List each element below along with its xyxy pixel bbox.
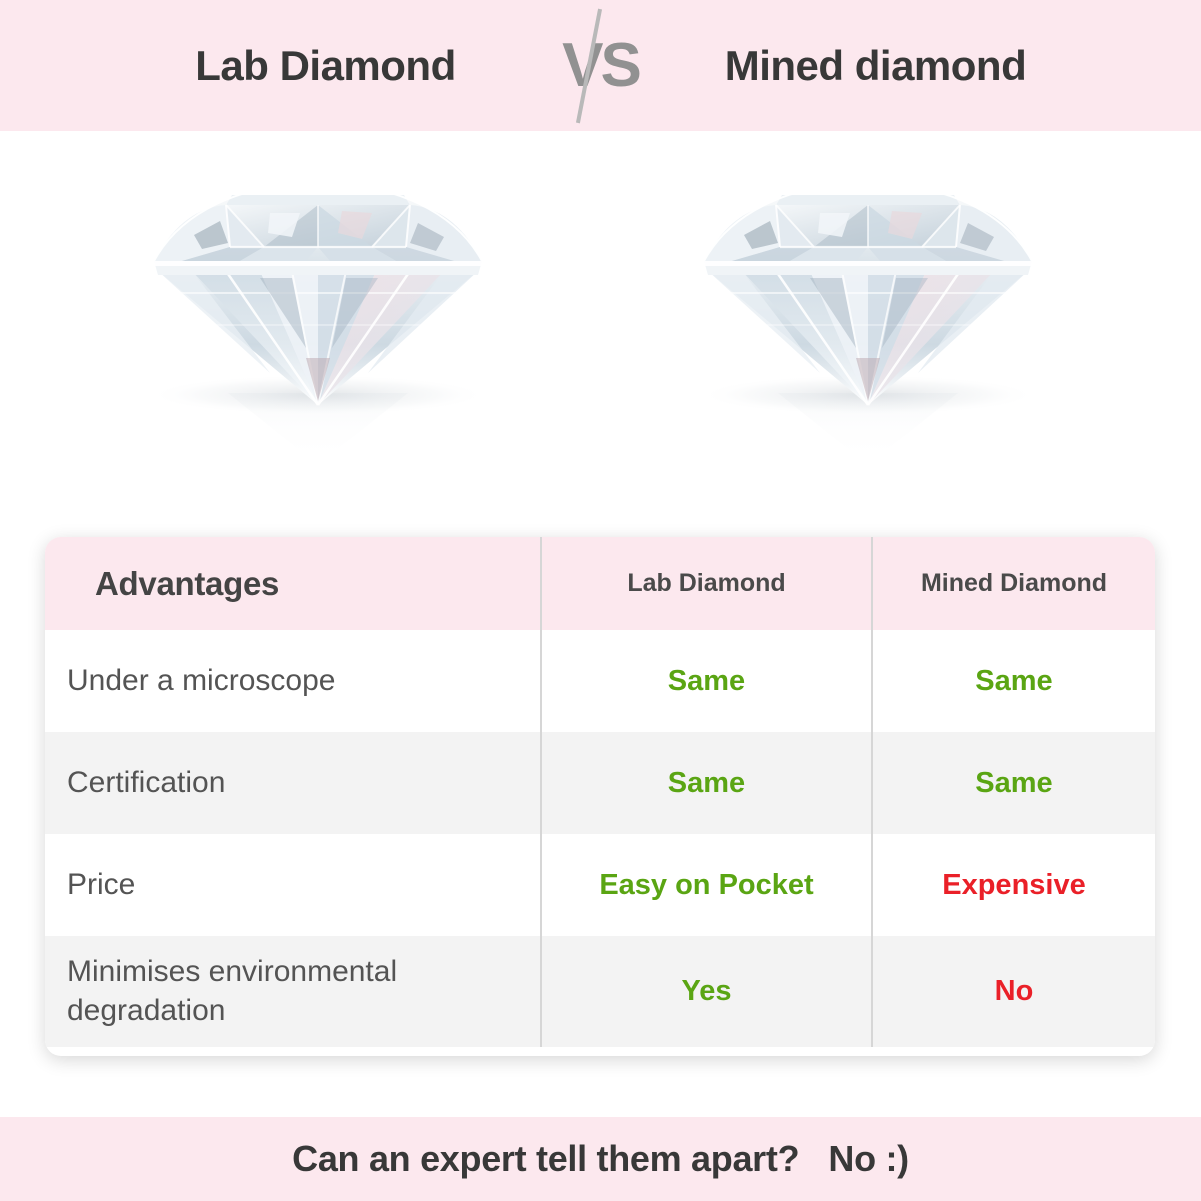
- row-label-price: Price: [45, 834, 541, 936]
- comparison-table-card: Advantages Lab Diamond Mined Diamond Und…: [45, 537, 1155, 1056]
- column-header-mined-diamond: Mined Diamond: [872, 537, 1155, 630]
- infographic-page: Lab Diamond VS Mined diamond: [0, 0, 1201, 1201]
- footer-band: Can an expert tell them apart? No :): [0, 1117, 1201, 1201]
- vs-badge: VS: [541, 0, 661, 131]
- cell-lab-certification: Same: [541, 732, 872, 834]
- cell-lab-price: Easy on Pocket: [541, 834, 872, 936]
- comparison-table: Advantages Lab Diamond Mined Diamond Und…: [45, 537, 1155, 1047]
- header-title-right: Mined diamond: [661, 42, 1091, 90]
- table-header: Advantages Lab Diamond Mined Diamond: [45, 537, 1155, 630]
- diamond-icon: [660, 143, 1080, 483]
- footer-answer: No :): [828, 1138, 908, 1180]
- footer-spacer: [799, 1138, 828, 1180]
- cell-mined-certification: Same: [872, 732, 1155, 834]
- diamond-image-area: [0, 131, 1201, 531]
- cell-mined-price: Expensive: [872, 834, 1155, 936]
- table-row: Certification Same Same: [45, 732, 1155, 834]
- row-label-certification: Certification: [45, 732, 541, 834]
- row-label-environmental: Minimises environmental degradation: [45, 936, 541, 1047]
- table-body: Under a microscope Same Same Certificati…: [45, 630, 1155, 1047]
- cell-lab-microscope: Same: [541, 630, 872, 732]
- table-header-row: Advantages Lab Diamond Mined Diamond: [45, 537, 1155, 630]
- column-header-advantages: Advantages: [45, 537, 541, 630]
- mined-diamond-image: [660, 143, 1080, 483]
- table-row: Price Easy on Pocket Expensive: [45, 834, 1155, 936]
- cell-mined-microscope: Same: [872, 630, 1155, 732]
- cell-lab-environmental: Yes: [541, 936, 872, 1047]
- header-band: Lab Diamond VS Mined diamond: [0, 0, 1201, 131]
- row-label-microscope: Under a microscope: [45, 630, 541, 732]
- footer-question: Can an expert tell them apart?: [292, 1138, 799, 1180]
- lab-diamond-image: [110, 143, 530, 483]
- vs-label: VS: [562, 35, 639, 97]
- cell-mined-environmental: No: [872, 936, 1155, 1047]
- table-row: Minimises environmental degradation Yes …: [45, 936, 1155, 1047]
- diamond-icon: [110, 143, 530, 483]
- column-header-lab-diamond: Lab Diamond: [541, 537, 872, 630]
- table-row: Under a microscope Same Same: [45, 630, 1155, 732]
- header-title-left: Lab Diamond: [111, 42, 541, 90]
